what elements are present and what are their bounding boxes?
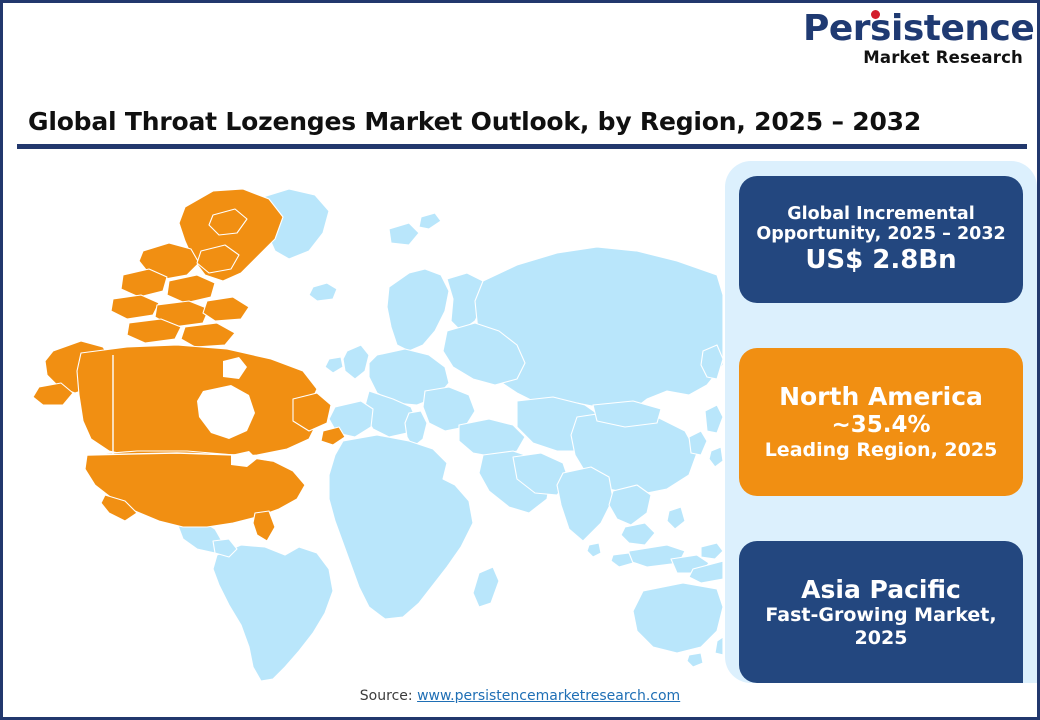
source-link[interactable]: www.persistencemarketresearch.com (417, 688, 680, 704)
card1-value: US$ 2.8Bn (805, 245, 956, 276)
logo-accent-dot-icon (871, 10, 880, 19)
card1-line1: Global Incremental (787, 204, 974, 225)
card1-line2: Opportunity, 2025 – 2032 (756, 224, 1005, 245)
logo-primary-label: Persistence (803, 8, 1034, 49)
source-label: Source: (360, 688, 413, 704)
world-map (17, 155, 723, 683)
highlights-panel: Global Incremental Opportunity, 2025 – 2… (725, 161, 1037, 683)
card2-caption: Leading Region, 2025 (765, 439, 998, 461)
card3-caption: Fast-Growing Market, (765, 604, 996, 626)
card-global-incremental-opportunity: Global Incremental Opportunity, 2025 – 2… (739, 176, 1023, 303)
card3-region: Asia Pacific (801, 575, 961, 605)
logo-secondary-label: Market Research (803, 50, 1023, 67)
logo-primary-text: Persistence (803, 11, 1034, 47)
card3-year: 2025 (855, 627, 908, 649)
source-line: Source: www.persistencemarketresearch.co… (3, 688, 1037, 704)
card-leading-region: North America ~35.4% Leading Region, 202… (739, 348, 1023, 496)
card2-value: ~35.4% (831, 412, 930, 439)
card2-region: North America (779, 382, 983, 412)
card-fast-growing-market: Asia Pacific Fast-Growing Market, 2025 (739, 541, 1023, 683)
title-divider (17, 144, 1027, 149)
brand-logo: Persistence Market Research (803, 11, 1023, 73)
infographic-frame: Persistence Market Research Global Throa… (0, 0, 1040, 720)
page-title: Global Throat Lozenges Market Outlook, b… (28, 107, 921, 136)
